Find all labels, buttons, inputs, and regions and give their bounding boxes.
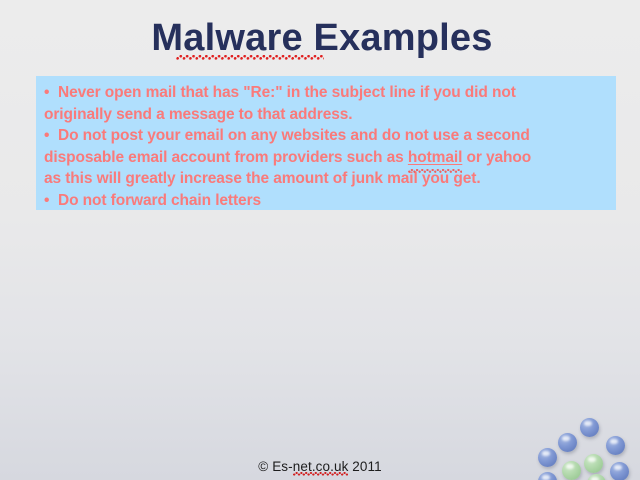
footer-copyright: © Es-net.co.uk 2011 [0,459,640,474]
decor-sphere-9 [587,474,606,480]
decor-sphere-2 [558,433,577,452]
page-title-text: Malware Examples [149,15,490,57]
footer-year: 2011 [348,459,381,474]
bullet-line: •Never open mail that has "Re:" in the s… [44,82,608,104]
bullet-line-text: Do not forward chain letters [58,192,261,209]
bullet-line-continuation: disposable email account from providers … [44,147,608,169]
bullet-line-continuation: as this will greatly increase the amount… [44,168,608,190]
bullet-line-continuation: originally send a message to that addres… [44,104,608,126]
slide-canvas: Malware Examples Malware Examples •Never… [0,0,640,480]
bullet-icon: • [44,82,58,104]
decor-sphere-3 [606,436,625,455]
content-textbox: •Never open mail that has "Re:" in the s… [36,76,616,210]
title-area: Malware Examples Malware Examples [0,14,640,58]
bullet-icon: • [44,125,58,147]
bullet-line-text: disposable email account from providers … [44,149,408,166]
bullet-line: •Do not post your email on any websites … [44,125,608,147]
hotmail-link[interactable]: hotmail [408,147,462,169]
page-title: Malware Examples Malware Examples [149,14,490,58]
bullet-line: •Do not forward chain letters [44,190,608,212]
footer-prefix: Es- [268,459,292,474]
spellcheck-squiggle-icon [176,55,324,60]
bullet-line-text: originally send a message to that addres… [44,106,353,123]
bullet-icon: • [44,190,58,212]
bullet-line-text-after: or yahoo [462,149,531,166]
decor-sphere-1 [580,418,599,437]
footer-domain: net.co.uk [293,459,349,474]
copyright-icon: © [258,459,268,474]
bullet-line-text: Never open mail that has "Re:" in the su… [58,84,516,101]
bullet-line-text: Do not post your email on any websites a… [58,127,530,144]
